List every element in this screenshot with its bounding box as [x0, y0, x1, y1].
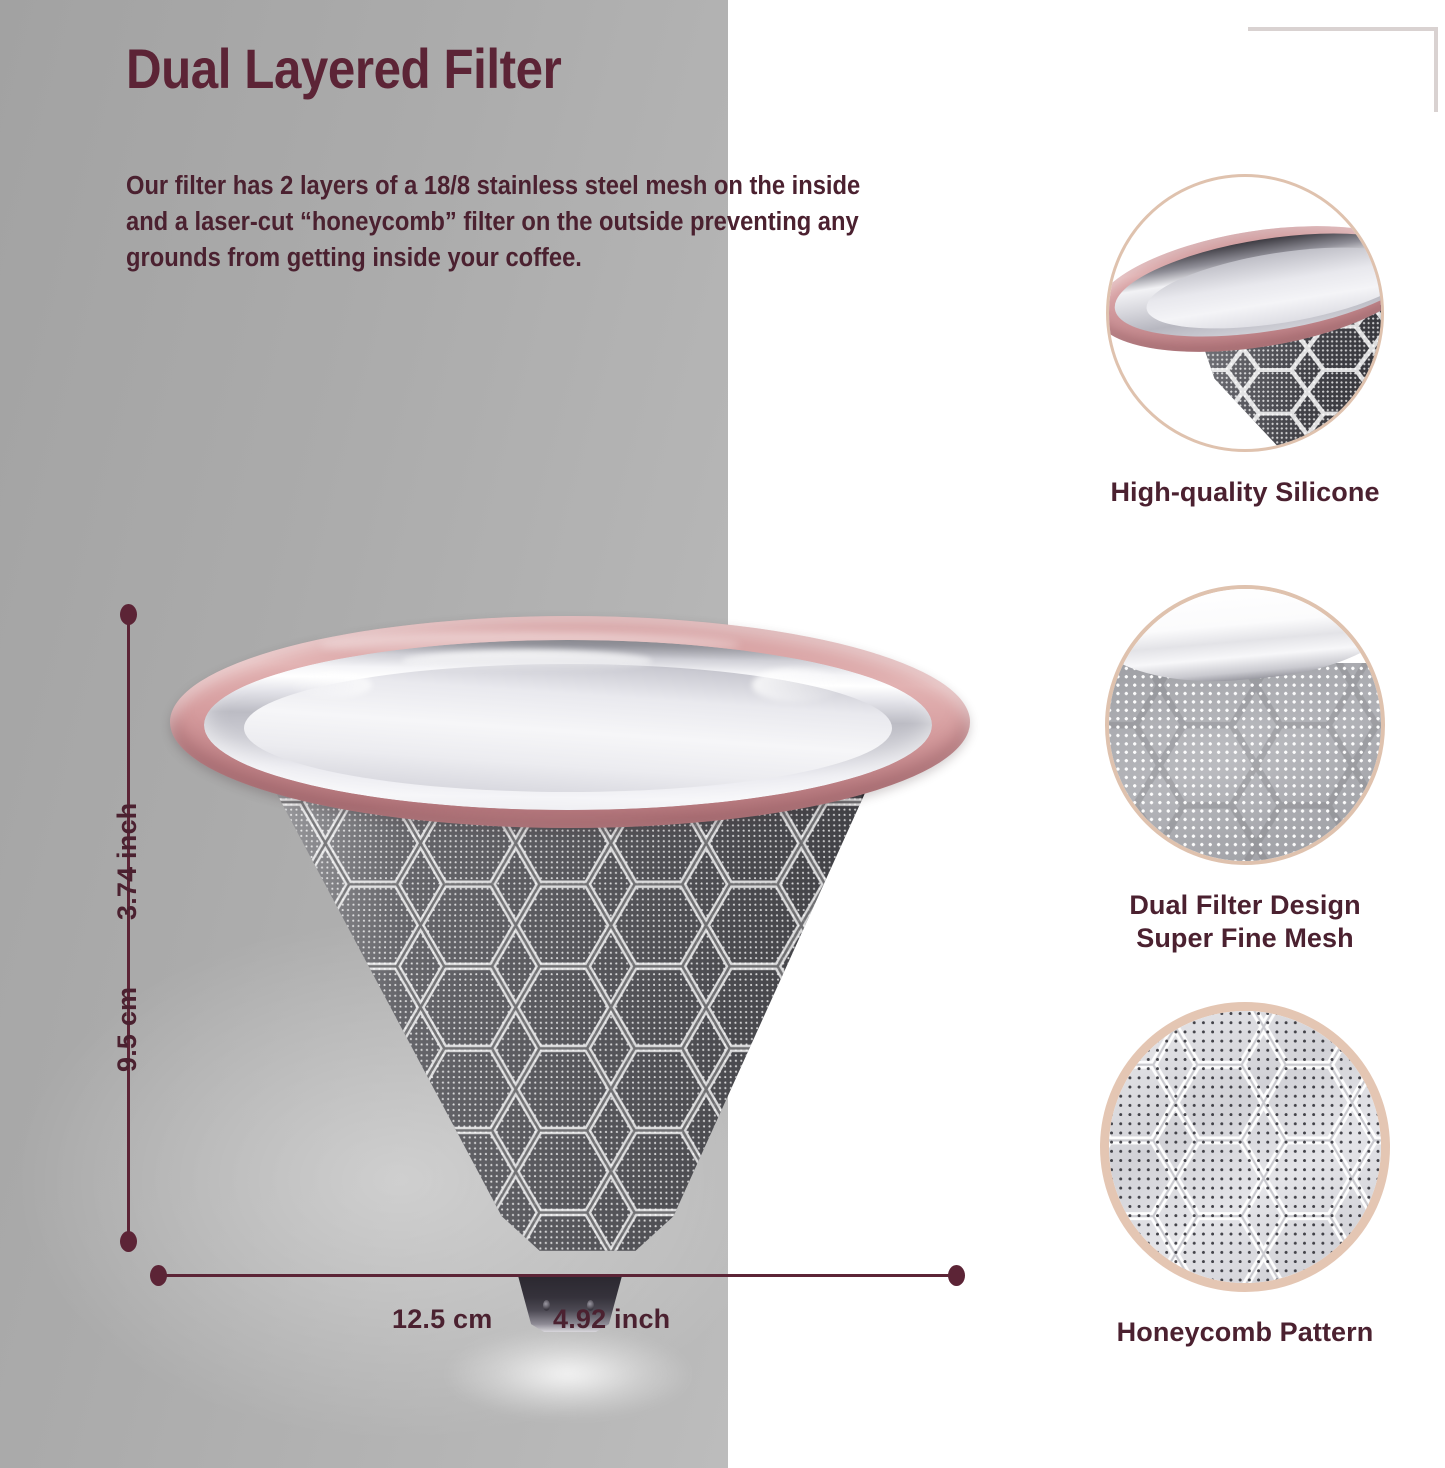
- corner-bracket-decoration: [1248, 27, 1438, 112]
- callout-1-label: High-quality Silicone: [1095, 476, 1395, 509]
- callout-high-quality-silicone: High-quality Silicone: [1095, 174, 1395, 509]
- width-label-inch: 4.92 inch: [553, 1304, 670, 1335]
- callout-2-fine-mesh: [1105, 663, 1385, 865]
- rivet-left: [543, 1300, 550, 1311]
- callout-1-circle-image: [1106, 174, 1384, 452]
- callout-3-label: Honeycomb Pattern: [1095, 1316, 1395, 1349]
- height-line-cap-bottom: [120, 1231, 137, 1252]
- height-line-cap-top: [120, 604, 137, 625]
- callout-3-perforation-dots: [1109, 1011, 1381, 1283]
- chrome-highlight-top-3: [292, 672, 372, 698]
- width-dimension-line: [157, 1274, 957, 1277]
- description-text: Our filter has 2 layers of a 18/8 stainl…: [126, 168, 889, 277]
- callout-2-label-line1: Dual Filter Design: [1095, 889, 1395, 922]
- callout-3-circle-image: [1100, 1002, 1390, 1292]
- callout-dual-filter-design: Dual Filter Design Super Fine Mesh: [1095, 585, 1395, 955]
- callout-1-label-line1: High-quality Silicone: [1095, 476, 1395, 509]
- callout-2-circle-image: [1105, 585, 1385, 865]
- callout-2-perforation-dots: [1105, 663, 1385, 865]
- callout-2-label: Dual Filter Design Super Fine Mesh: [1095, 889, 1395, 955]
- height-dimension-line: [127, 612, 130, 1240]
- callout-2-label-line2: Super Fine Mesh: [1095, 922, 1395, 955]
- callout-3-label-line1: Honeycomb Pattern: [1095, 1316, 1395, 1349]
- width-line-cap-right: [948, 1265, 965, 1286]
- page-title: Dual Layered Filter: [126, 40, 561, 98]
- height-label-inch: 3.74 inch: [112, 803, 143, 920]
- height-label-cm: 9.5 cm: [112, 987, 143, 1072]
- description-paragraph: Our filter has 2 layers of a 18/8 stainl…: [126, 168, 889, 277]
- width-line-cap-left: [150, 1265, 167, 1286]
- infographic-page: Dual Layered Filter Our filter has 2 lay…: [0, 0, 1445, 1468]
- product-image-cone-filter: [152, 606, 982, 1266]
- chrome-highlight-top-2: [752, 668, 842, 702]
- callout-honeycomb-pattern: Honeycomb Pattern: [1095, 1002, 1395, 1349]
- callout-3-honeycomb-surface: [1109, 1011, 1381, 1283]
- width-label-cm: 12.5 cm: [392, 1304, 492, 1335]
- chrome-highlight-top-1: [402, 650, 652, 672]
